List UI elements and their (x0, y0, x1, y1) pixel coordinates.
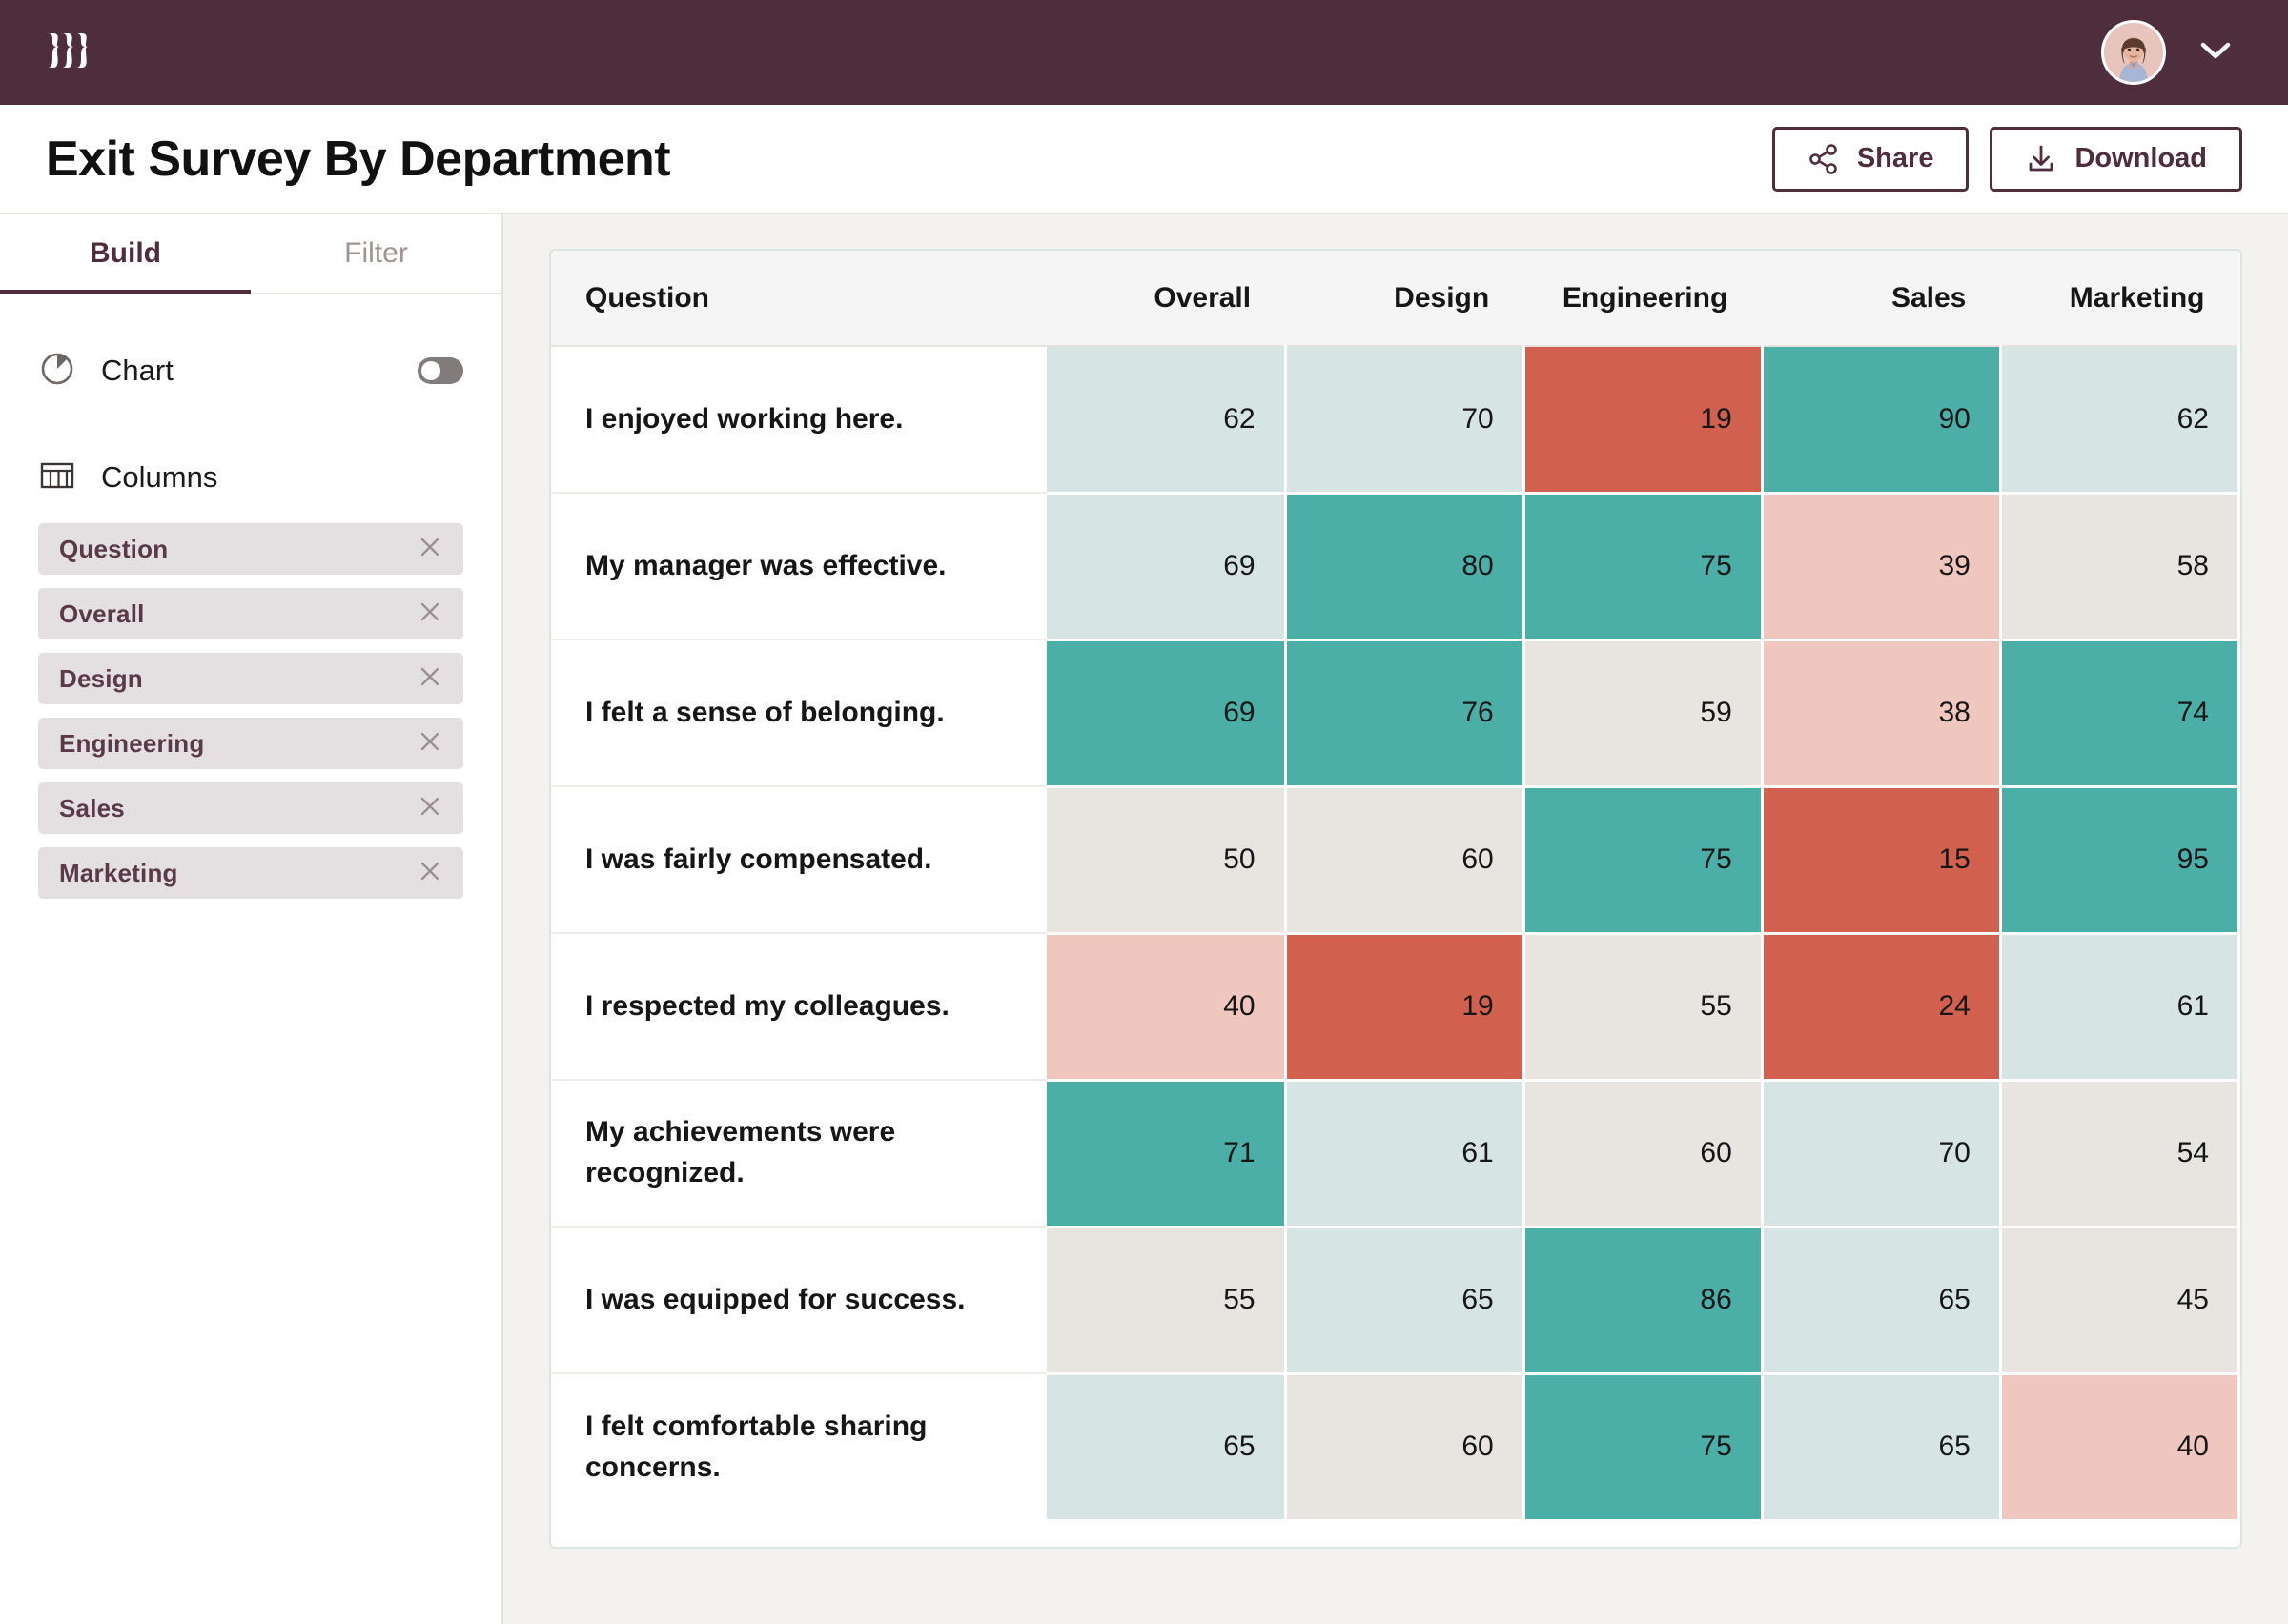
close-icon[interactable] (418, 535, 442, 564)
heatmap-cell: 19 (1285, 933, 1523, 1080)
heatmap-cell: 40 (2000, 1373, 2238, 1520)
heatmap-cell: 55 (1523, 933, 1762, 1080)
table-header-row: QuestionOverallDesignEngineeringSalesMar… (551, 251, 2239, 346)
column-header-marketing[interactable]: Marketing (2000, 251, 2238, 346)
heatmap-cell: 38 (1762, 639, 2000, 786)
page-title: Exit Survey By Department (46, 131, 670, 188)
column-chip-label: Marketing (59, 859, 178, 888)
heatmap-cell: 65 (1285, 1227, 1523, 1373)
table-row: I felt comfortable sharing concerns.6560… (551, 1373, 2239, 1520)
column-chip-label: Sales (59, 794, 125, 823)
column-chip-sales[interactable]: Sales (38, 782, 463, 834)
heatmap-cell: 86 (1523, 1227, 1762, 1373)
heatmap-cell: 90 (1762, 346, 2000, 493)
close-icon[interactable] (418, 664, 442, 694)
column-chip-overall[interactable]: Overall (38, 588, 463, 639)
heatmap-table: QuestionOverallDesignEngineeringSalesMar… (551, 251, 2240, 1522)
heatmap-cell: 61 (2000, 933, 2238, 1080)
heatmap-cell: 15 (1762, 786, 2000, 933)
columns-label: Columns (101, 460, 217, 495)
heatmap-cell: 65 (1762, 1373, 2000, 1520)
question-cell: My achievements were recognized. (551, 1080, 1047, 1227)
heatmap-cell: 60 (1285, 1373, 1523, 1520)
column-chip-label: Engineering (59, 729, 204, 759)
page-header: Exit Survey By Department Share Download (0, 105, 2288, 214)
close-icon[interactable] (418, 729, 442, 759)
tab-filter[interactable]: Filter (251, 214, 501, 293)
heatmap-cell: 71 (1047, 1080, 1285, 1227)
heatmap-cell: 58 (2000, 493, 2238, 639)
close-icon[interactable] (418, 794, 442, 823)
main-content: QuestionOverallDesignEngineeringSalesMar… (503, 214, 2288, 1624)
heatmap-cell: 70 (1285, 346, 1523, 493)
heatmap-cell: 39 (1762, 493, 2000, 639)
heatmap-cell: 45 (2000, 1227, 2238, 1373)
column-chip-marketing[interactable]: Marketing (38, 847, 463, 899)
heatmap-cell: 76 (1285, 639, 1523, 786)
column-chip-question[interactable]: Question (38, 523, 463, 575)
close-icon[interactable] (418, 599, 442, 629)
share-icon (1808, 143, 1840, 175)
heatmap-cell: 95 (2000, 786, 2238, 933)
heatmap-cell: 75 (1523, 786, 1762, 933)
column-chip-engineering[interactable]: Engineering (38, 718, 463, 769)
column-chip-label: Overall (59, 599, 145, 629)
table-head: QuestionOverallDesignEngineeringSalesMar… (551, 251, 2239, 346)
sidebar-tabs: Build Filter (0, 214, 501, 294)
heatmap-cell: 54 (2000, 1080, 2238, 1227)
heatmap-cell: 62 (1047, 346, 1285, 493)
chart-toggle[interactable] (418, 357, 463, 384)
chart-label: Chart (101, 354, 174, 388)
logo-icon[interactable] (46, 30, 90, 76)
table-row: My manager was effective.6980753958 (551, 493, 2239, 639)
heatmap-cell: 60 (1285, 786, 1523, 933)
column-chip-label: Design (59, 664, 143, 694)
heatmap-cell: 74 (2000, 639, 2238, 786)
heatmap-cell: 55 (1047, 1227, 1285, 1373)
heatmap-cell: 69 (1047, 493, 1285, 639)
chevron-down-icon[interactable] (2200, 41, 2231, 65)
column-header-sales[interactable]: Sales (1762, 251, 2000, 346)
column-chip-design[interactable]: Design (38, 653, 463, 704)
columns-section-header: Columns (0, 432, 501, 523)
column-chip-label: Question (59, 535, 168, 564)
heatmap-cell: 65 (1762, 1227, 2000, 1373)
sidebar: Build Filter Chart Col (0, 214, 503, 1624)
table-columns-icon (38, 457, 76, 499)
download-icon (2025, 143, 2057, 175)
table-row: I respected my colleagues.4019552461 (551, 933, 2239, 1080)
heatmap-table-card: QuestionOverallDesignEngineeringSalesMar… (549, 249, 2242, 1549)
question-cell: I felt comfortable sharing concerns. (551, 1373, 1047, 1520)
user-avatar[interactable] (2101, 20, 2166, 85)
table-row: My achievements were recognized.71616070… (551, 1080, 2239, 1227)
share-button-label: Share (1857, 143, 1934, 174)
column-header-overall[interactable]: Overall (1047, 251, 1285, 346)
tab-build[interactable]: Build (0, 214, 251, 293)
question-cell: I felt a sense of belonging. (551, 639, 1047, 786)
column-header-design[interactable]: Design (1285, 251, 1523, 346)
heatmap-cell: 19 (1523, 346, 1762, 493)
question-cell: My manager was effective. (551, 493, 1047, 639)
heatmap-cell: 24 (1762, 933, 2000, 1080)
heatmap-cell: 62 (2000, 346, 2238, 493)
question-cell: I was equipped for success. (551, 1227, 1047, 1373)
column-header-engineering[interactable]: Engineering (1523, 251, 1762, 346)
chart-toggle-knob (421, 361, 440, 380)
download-button-label: Download (2074, 143, 2207, 174)
heatmap-cell: 75 (1523, 493, 1762, 639)
heatmap-cell: 61 (1285, 1080, 1523, 1227)
table-row: I enjoyed working here.6270199062 (551, 346, 2239, 493)
heatmap-cell: 80 (1285, 493, 1523, 639)
close-icon[interactable] (418, 859, 442, 888)
question-cell: I was fairly compensated. (551, 786, 1047, 933)
share-button[interactable]: Share (1772, 127, 1970, 192)
header-actions: Share Download (1772, 127, 2242, 192)
heatmap-cell: 50 (1047, 786, 1285, 933)
top-bar-right (2101, 20, 2231, 85)
question-cell: I enjoyed working here. (551, 346, 1047, 493)
heatmap-cell: 75 (1523, 1373, 1762, 1520)
download-button[interactable]: Download (1990, 127, 2242, 192)
heatmap-cell: 60 (1523, 1080, 1762, 1227)
table-row: I was equipped for success.5565866545 (551, 1227, 2239, 1373)
top-bar (0, 0, 2288, 105)
table-row: I felt a sense of belonging.6976593874 (551, 639, 2239, 786)
chart-section: Chart (0, 325, 501, 416)
pie-chart-icon (38, 350, 76, 393)
question-cell: I respected my colleagues. (551, 933, 1047, 1080)
column-header-question[interactable]: Question (551, 251, 1047, 346)
heatmap-cell: 65 (1047, 1373, 1285, 1520)
column-chip-list: Question Overall Design Engineering (0, 523, 501, 899)
heatmap-cell: 69 (1047, 639, 1285, 786)
heatmap-cell: 59 (1523, 639, 1762, 786)
heatmap-cell: 70 (1762, 1080, 2000, 1227)
table-body: I enjoyed working here.6270199062My mana… (551, 346, 2239, 1520)
table-row: I was fairly compensated.5060751595 (551, 786, 2239, 933)
app-body: Build Filter Chart Col (0, 214, 2288, 1624)
heatmap-cell: 40 (1047, 933, 1285, 1080)
